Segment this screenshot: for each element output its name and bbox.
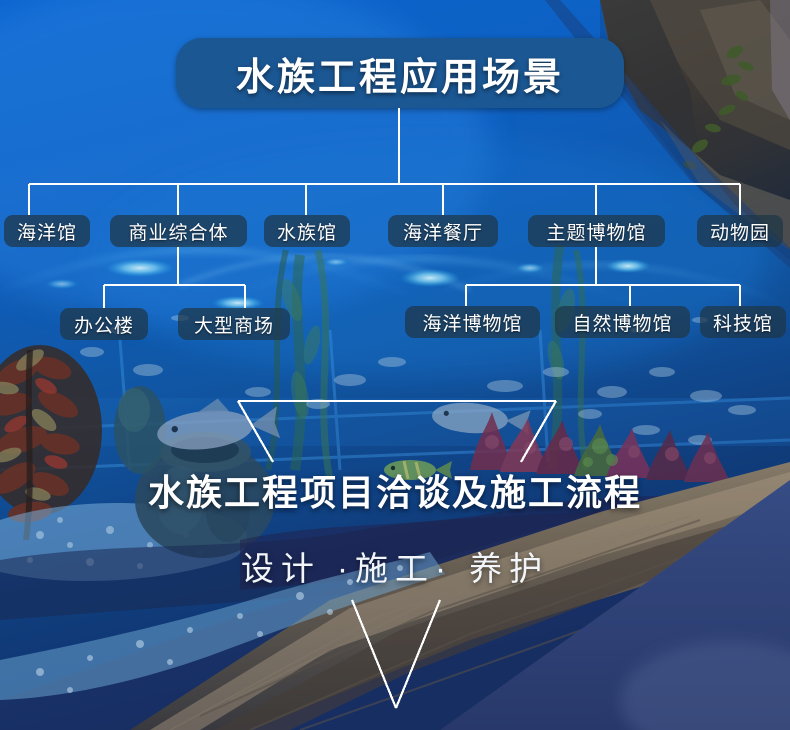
node-level2-bangonglou[interactable]: 办公楼 <box>60 308 148 340</box>
page-title-banner: 水族工程应用场景 <box>176 38 624 108</box>
process-subline: 设计 ·施工· 养护 <box>0 542 790 590</box>
node-level1-zhutibowuguan[interactable]: 主题博物馆 <box>528 215 665 247</box>
process-headline: 水族工程项目洽谈及施工流程 <box>0 464 790 516</box>
poster-stage: 水族工程应用场景 <box>0 0 790 730</box>
node-level2-daxingshangchang[interactable]: 大型商场 <box>178 308 290 340</box>
node-level2-haiyangbowuguan[interactable]: 海洋博物馆 <box>405 306 540 338</box>
node-level2-kejiguan[interactable]: 科技馆 <box>700 306 786 338</box>
node-label: 商业综合体 <box>128 218 228 245</box>
node-label: 大型商场 <box>194 311 274 338</box>
node-label: 海洋博物馆 <box>422 309 522 336</box>
node-label: 海洋餐厅 <box>403 218 483 245</box>
node-level1-shangyezongheti[interactable]: 商业综合体 <box>110 215 247 247</box>
node-level2-ziranbowuguan[interactable]: 自然博物馆 <box>555 306 690 338</box>
node-level1-dongwuyuan[interactable]: 动物园 <box>697 215 783 247</box>
page-title: 水族工程应用场景 <box>236 46 564 101</box>
node-label: 动物园 <box>710 218 770 245</box>
node-label: 办公楼 <box>74 311 134 338</box>
node-label: 水族馆 <box>277 218 337 245</box>
node-label: 主题博物馆 <box>546 218 646 245</box>
node-label: 自然博物馆 <box>572 309 672 336</box>
node-level1-haiyangcanting[interactable]: 海洋餐厅 <box>388 215 498 247</box>
node-label: 海洋馆 <box>17 218 77 245</box>
node-label: 科技馆 <box>713 309 773 336</box>
node-level1-haiyangguan[interactable]: 海洋馆 <box>4 215 90 247</box>
node-level1-shuizuguan[interactable]: 水族馆 <box>264 215 350 247</box>
aquarium-background-photo <box>0 0 790 730</box>
